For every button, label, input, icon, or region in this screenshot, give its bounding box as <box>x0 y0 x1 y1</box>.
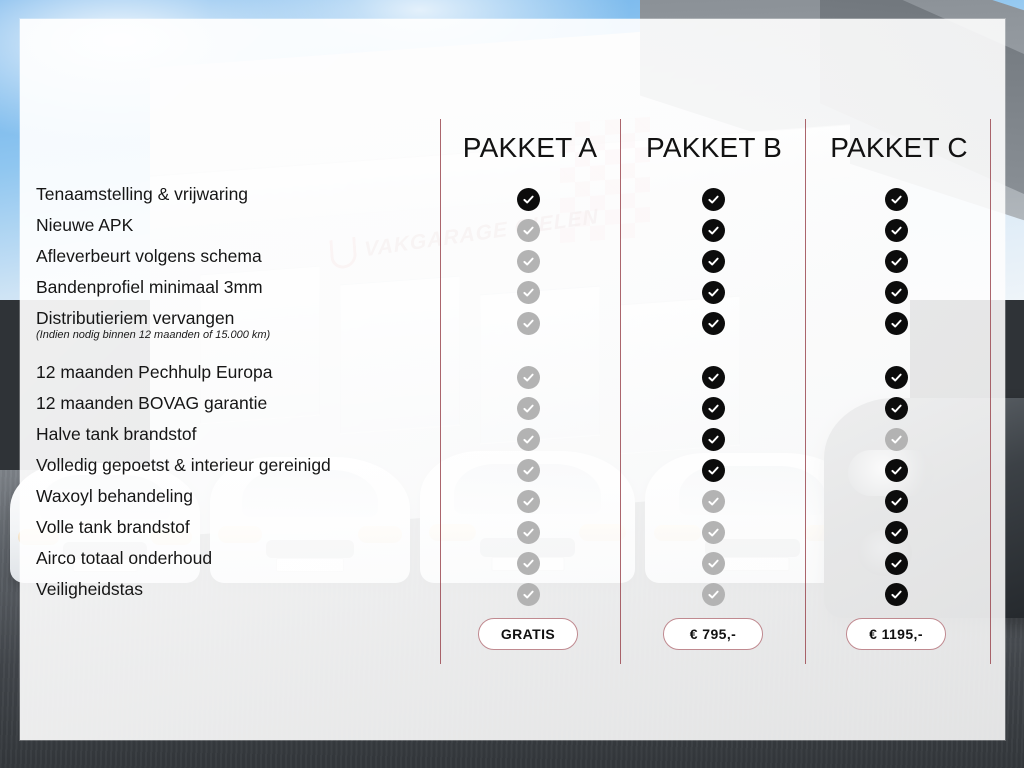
check-icon-pakket-b <box>702 397 725 420</box>
check-icon-pakket-b <box>702 219 725 242</box>
check-icon-pakket-a <box>517 281 540 304</box>
check-icon-pakket-a <box>517 428 540 451</box>
check-icon-pakket-a <box>517 250 540 273</box>
check-icon-pakket-b <box>702 250 725 273</box>
feature-label: Volle tank brandstof <box>36 517 190 537</box>
check-icon-pakket-b <box>702 281 725 304</box>
check-icon-pakket-a <box>517 552 540 575</box>
feature-label: Veiligheidstas <box>36 579 143 599</box>
price-badge-pakket-c[interactable]: € 1195,- <box>846 618 946 650</box>
column-divider <box>620 119 621 664</box>
feature-label: 12 maanden Pechhulp Europa <box>36 362 272 382</box>
check-icon-pakket-a <box>517 312 540 335</box>
check-icon-pakket-a <box>517 397 540 420</box>
check-icon-pakket-c <box>885 397 908 420</box>
check-icon-pakket-b <box>702 428 725 451</box>
feature-label: Nieuwe APK <box>36 215 133 235</box>
feature-label: Tenaamstelling & vrijwaring <box>36 184 248 204</box>
check-icon-pakket-c <box>885 490 908 513</box>
check-icon-pakket-a <box>517 188 540 211</box>
feature-label: Bandenprofiel minimaal 3mm <box>36 277 263 297</box>
check-icon-pakket-a <box>517 583 540 606</box>
feature-label: Afleverbeurt volgens schema <box>36 246 262 266</box>
check-icon-pakket-b <box>702 459 725 482</box>
column-divider <box>440 119 441 664</box>
feature-label: Waxoyl behandeling <box>36 486 193 506</box>
feature-label: 12 maanden BOVAG garantie <box>36 393 267 413</box>
check-icon-pakket-c <box>885 366 908 389</box>
check-icon-pakket-c <box>885 428 908 451</box>
feature-label: Distributieriem vervangen <box>36 308 234 328</box>
check-icon-pakket-c <box>885 312 908 335</box>
price-badge-pakket-b[interactable]: € 795,- <box>663 618 763 650</box>
check-icon-pakket-c <box>885 250 908 273</box>
check-icon-pakket-b <box>702 312 725 335</box>
feature-label: Volledig gepoetst & interieur gereinigd <box>36 455 331 475</box>
feature-label: Airco totaal onderhoud <box>36 548 212 568</box>
check-icon-pakket-b <box>702 552 725 575</box>
price-badge-pakket-a[interactable]: GRATIS <box>478 618 578 650</box>
check-icon-pakket-b <box>702 366 725 389</box>
package-comparison-panel: PAKKET A PAKKET B PAKKET C Tenaamstellin… <box>20 19 1005 740</box>
check-icon-pakket-c <box>885 219 908 242</box>
check-icon-pakket-a <box>517 521 540 544</box>
check-icon-pakket-c <box>885 552 908 575</box>
check-icon-pakket-c <box>885 188 908 211</box>
column-header-pakket-c: PAKKET C <box>808 132 990 164</box>
column-divider <box>990 119 991 664</box>
check-icon-pakket-a <box>517 366 540 389</box>
column-header-pakket-b: PAKKET B <box>623 132 805 164</box>
feature-note: (Indien nodig binnen 12 maanden of 15.00… <box>36 329 270 342</box>
check-icon-pakket-a <box>517 459 540 482</box>
check-icon-pakket-b <box>702 583 725 606</box>
slide-canvas: VAKGARAGE GIELEN <box>0 0 1024 768</box>
check-icon-pakket-c <box>885 521 908 544</box>
check-icon-pakket-c <box>885 281 908 304</box>
check-icon-pakket-b <box>702 521 725 544</box>
check-icon-pakket-a <box>517 219 540 242</box>
check-icon-pakket-c <box>885 583 908 606</box>
feature-label: Halve tank brandstof <box>36 424 197 444</box>
check-icon-pakket-b <box>702 188 725 211</box>
column-divider <box>805 119 806 664</box>
column-header-pakket-a: PAKKET A <box>440 132 620 164</box>
check-icon-pakket-c <box>885 459 908 482</box>
check-icon-pakket-a <box>517 490 540 513</box>
check-icon-pakket-b <box>702 490 725 513</box>
